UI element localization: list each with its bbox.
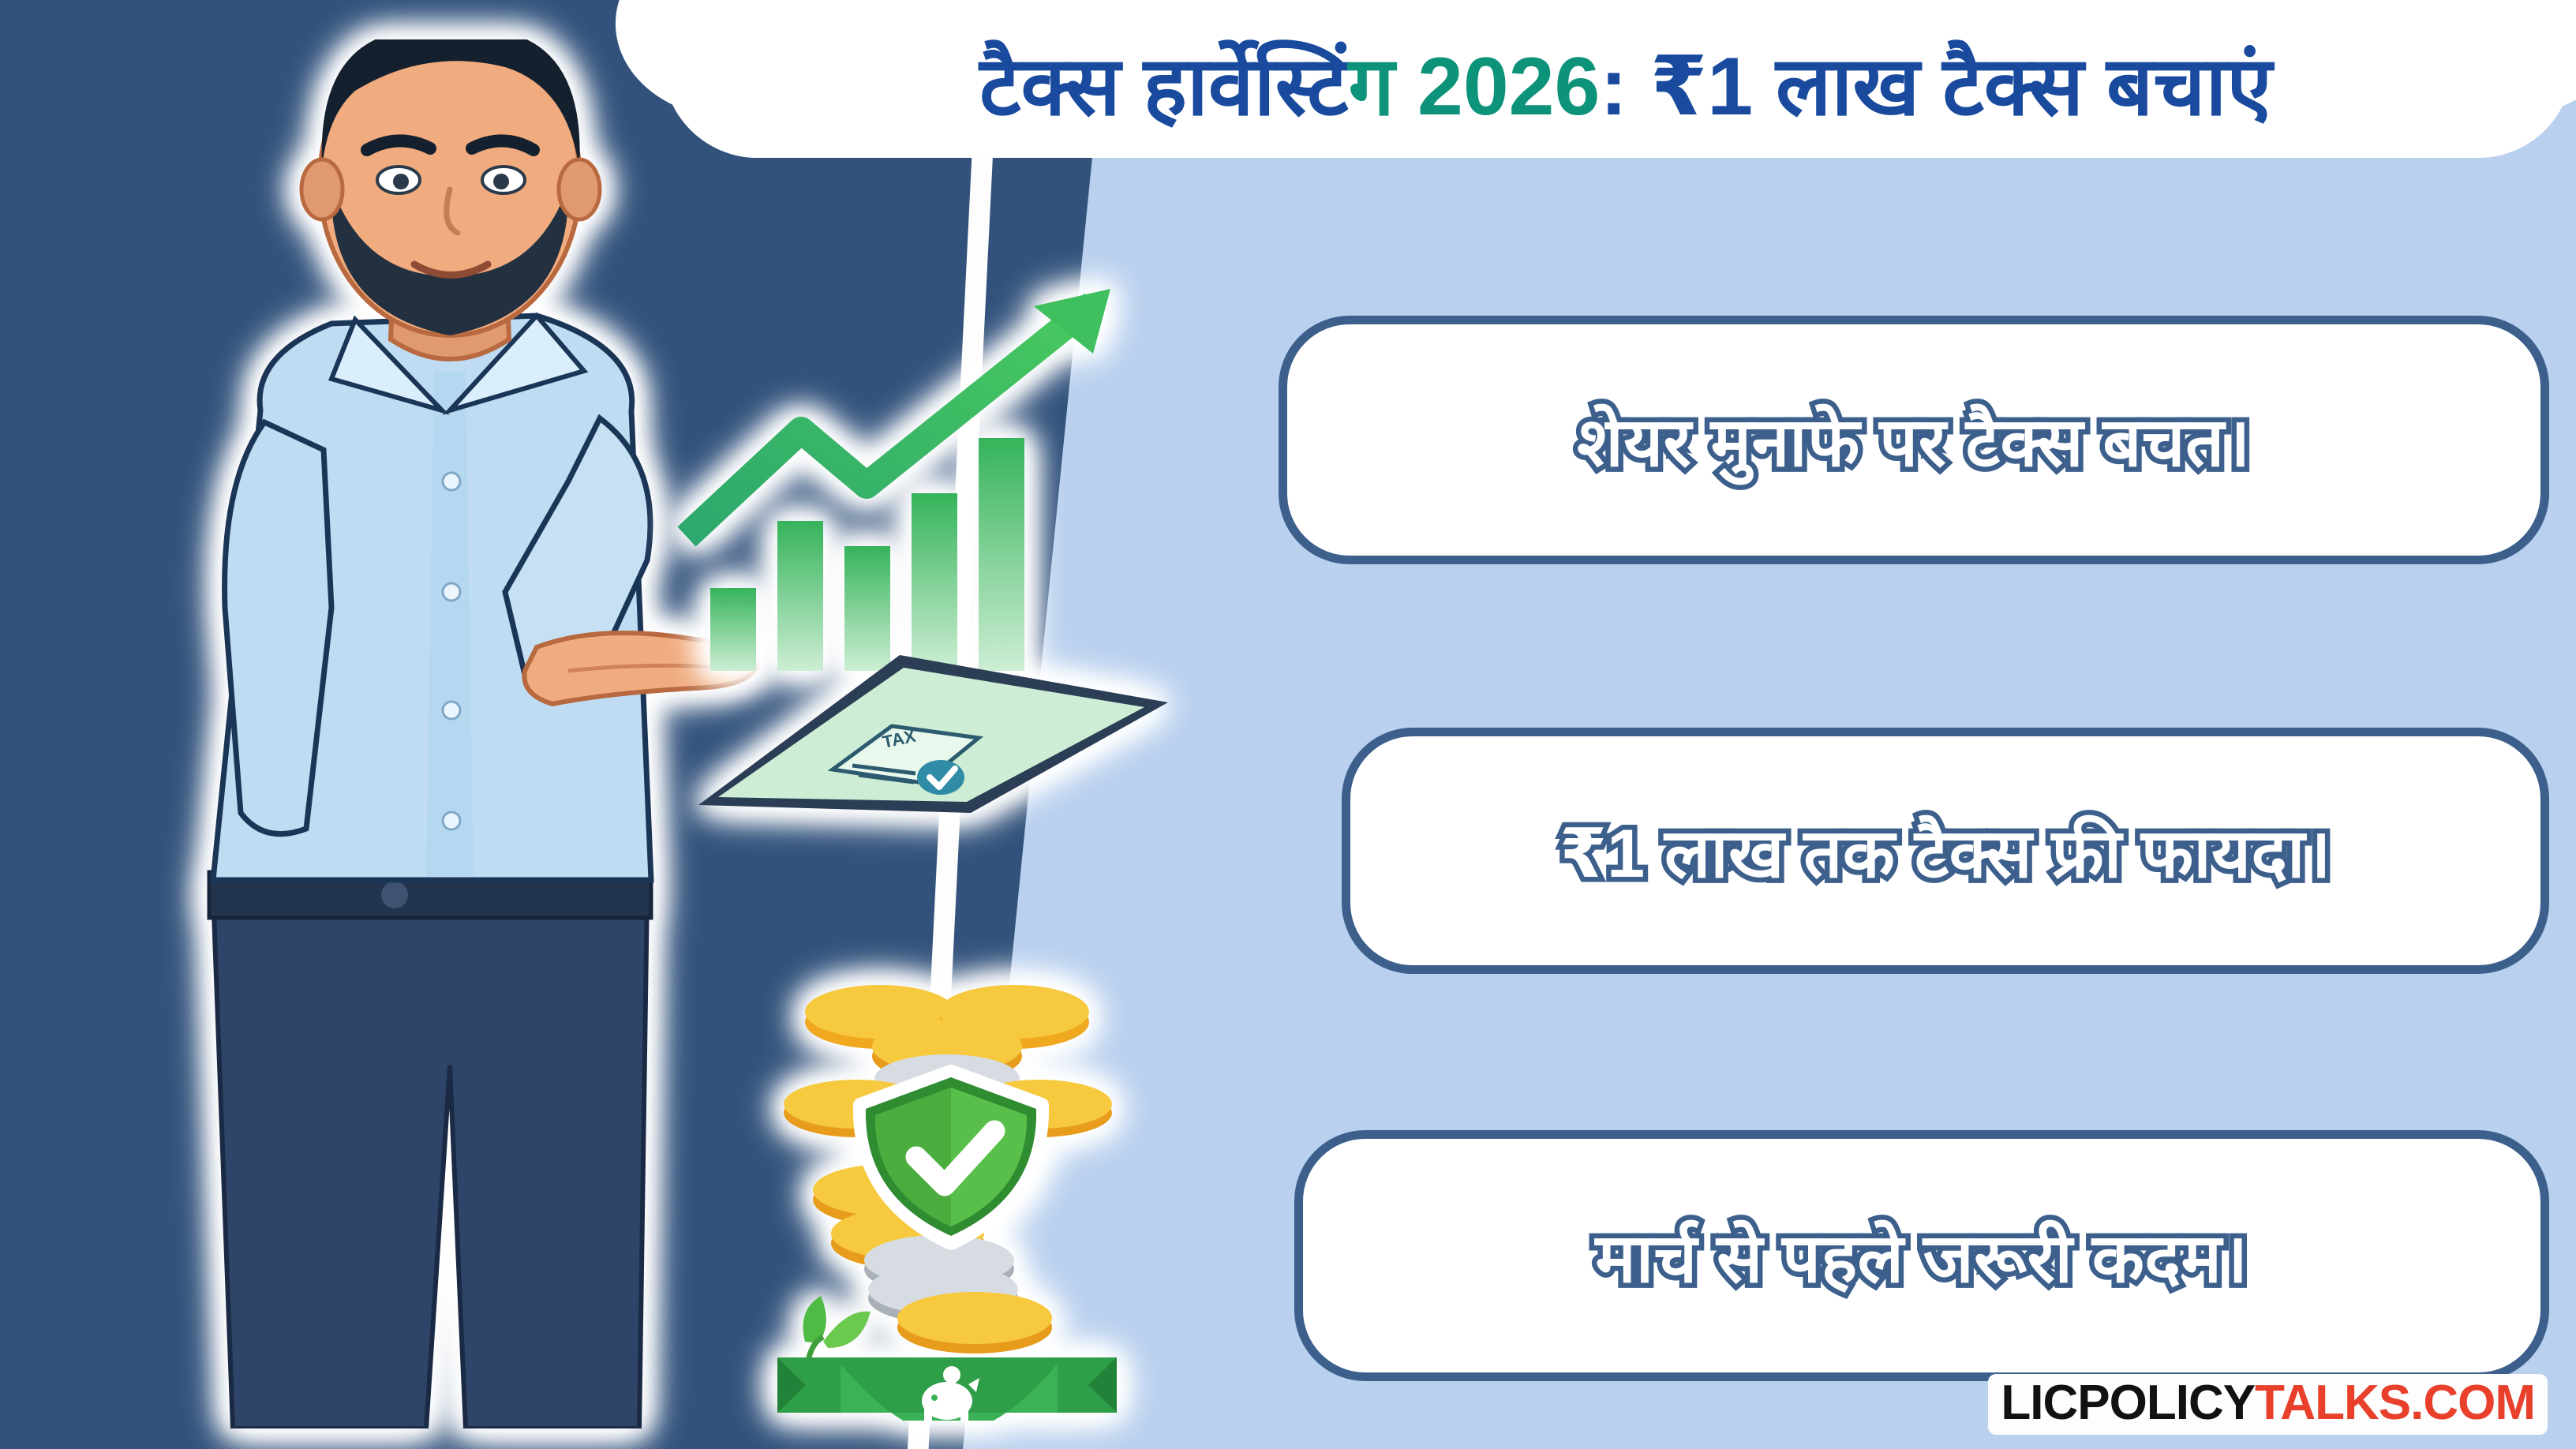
bullet-card-3[interactable]: मार्च से पहले जरूरी कदम। [1294,1130,2549,1381]
left-sleeve [225,422,331,834]
coin-stack-illustration [762,971,1133,1421]
bullet-card-1[interactable]: शेयर मुनाफे पर टैक्स बचत। [1279,316,2549,564]
watermark-domain: TALKS.COM [2255,1376,2535,1430]
bullet-card-2[interactable]: ₹1 लाख तक टैक्स फ्री फायदा। [1342,728,2549,974]
trousers [213,892,647,1428]
title-segment-3: : ₹1 लाख टैक्स बचाएं [1600,41,2272,133]
chart-bar-1 [710,588,756,671]
growth-chart-illustration: TAX [663,260,1168,813]
trend-line [687,304,1093,537]
poster-canvas: टैक्स हार्वेस्टिंग 2026: ₹1 लाख टैक्स बच… [0,0,2576,1449]
bullet-text-2: ₹1 लाख तक टैक्स फ्री फायदा। [1559,805,2331,897]
coins-gold-bottom [897,1292,1052,1354]
page-title: टैक्स हार्वेस्टिंग 2026: ₹1 लाख टैक्स बच… [679,46,2573,128]
bullet-text-3: मार्च से पहले जरूरी कदम। [1595,1210,2248,1302]
ribbon-banner [777,1357,1117,1421]
chart-bar-4 [912,493,957,671]
title-segment-2: ्टिंग 2026 [1349,41,1601,133]
chart-bar-5 [979,438,1024,671]
leaves-icon [803,1296,871,1365]
bullet-text-1: शेयर मुनाफे पर टैक्स बचत। [1577,394,2251,486]
tablet-device: TAX [698,655,1168,813]
site-watermark[interactable]: LICPOLICYTALKS.COM [1988,1374,2548,1435]
watermark-brand: LICPOLICY [2001,1376,2255,1430]
chart-bar-3 [844,546,890,671]
title-segment-1: टैक्स हार्वेस [979,41,1348,133]
chart-bar-2 [777,521,823,671]
